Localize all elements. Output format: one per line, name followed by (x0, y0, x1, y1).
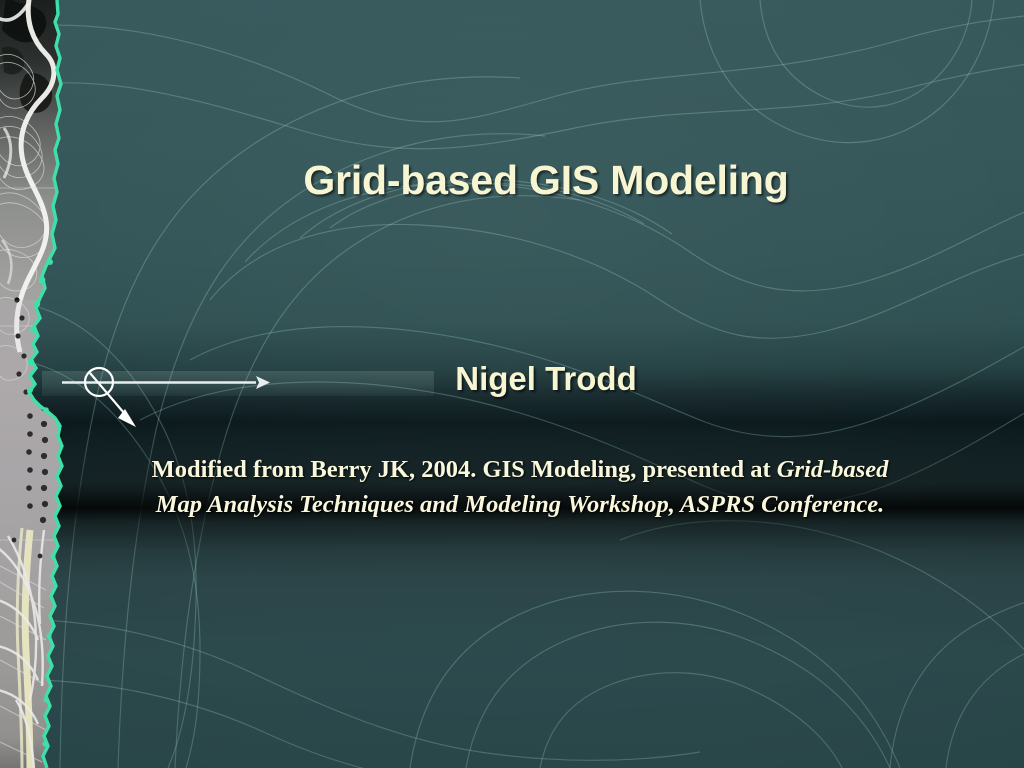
presentation-slide: Grid-based GIS Modeling Nigel Trodd Modi… (0, 0, 1024, 768)
credit-line-1: Modified from Berry JK, 2004. GIS Modeli… (152, 456, 745, 483)
credit-block: Modified from Berry JK, 2004. GIS Modeli… (140, 452, 900, 522)
page-title: Grid-based GIS Modeling (68, 157, 1024, 204)
author-subtitle: Nigel Trodd (68, 360, 1024, 398)
credit-line-2-prefix: at (750, 456, 777, 483)
credit-line-3-italic: Workshop, ASPRS Conference. (567, 491, 884, 518)
